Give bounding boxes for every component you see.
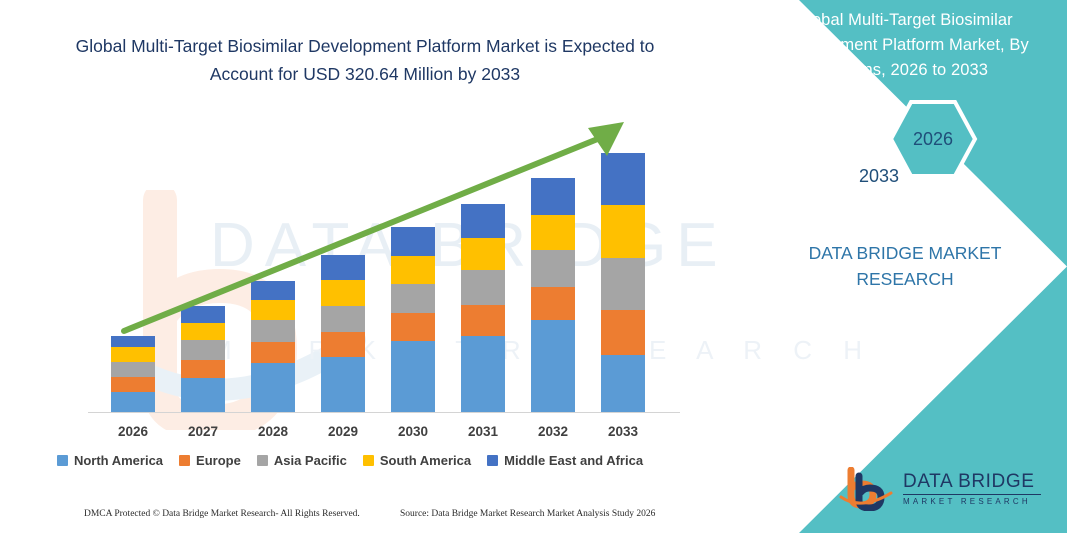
bar-segment-south-america bbox=[461, 238, 505, 270]
bar-segment-middle-east-and-africa bbox=[601, 153, 645, 205]
bar-segment-middle-east-and-africa bbox=[251, 281, 295, 300]
bar-2027 bbox=[181, 306, 225, 412]
bar-2026 bbox=[111, 336, 155, 412]
bar-segment-asia-pacific bbox=[111, 362, 155, 377]
bar-segment-asia-pacific bbox=[321, 306, 365, 332]
x-axis-label-2028: 2028 bbox=[233, 424, 313, 439]
hexagon-badges: 2033 2026 bbox=[807, 96, 1027, 206]
panel-title: Global Multi-Target Biosimilar Developme… bbox=[759, 8, 1049, 83]
legend-swatch-icon bbox=[179, 455, 190, 466]
bar-segment-north-america bbox=[601, 355, 645, 412]
bar-segment-asia-pacific bbox=[391, 284, 435, 313]
dbmr-logo-mark-icon bbox=[839, 467, 893, 511]
legend-label: Middle East and Africa bbox=[504, 453, 643, 468]
footer: DMCA Protected © Data Bridge Market Rese… bbox=[0, 505, 720, 529]
bar-segment-south-america bbox=[601, 205, 645, 258]
bar-segment-europe bbox=[391, 313, 435, 341]
x-axis-line bbox=[88, 412, 680, 413]
bar-segment-middle-east-and-africa bbox=[321, 255, 365, 280]
bar-segment-middle-east-and-africa bbox=[531, 178, 575, 215]
x-axis-label-2026: 2026 bbox=[93, 424, 173, 439]
bar-segment-north-america bbox=[531, 320, 575, 412]
legend-item-north-america[interactable]: North America bbox=[57, 453, 163, 468]
bar-segment-south-america bbox=[251, 300, 295, 320]
dbmr-logo: DATA BRIDGE MARKET RESEARCH bbox=[839, 467, 1041, 511]
bar-segment-north-america bbox=[251, 363, 295, 412]
bar-2029 bbox=[321, 255, 365, 412]
bar-segment-asia-pacific bbox=[461, 270, 505, 305]
legend-label: Asia Pacific bbox=[274, 453, 347, 468]
legend-label: South America bbox=[380, 453, 471, 468]
hexagon-2026-label: 2026 bbox=[887, 98, 979, 180]
legend-swatch-icon bbox=[57, 455, 68, 466]
bar-segment-europe bbox=[111, 377, 155, 392]
bar-2032 bbox=[531, 178, 575, 412]
dbmr-logo-name: DATA BRIDGE bbox=[903, 472, 1041, 491]
legend-item-middle-east-and-africa[interactable]: Middle East and Africa bbox=[487, 453, 643, 468]
hexagon-2026: 2026 bbox=[887, 98, 979, 180]
b-mark-icon bbox=[839, 467, 893, 511]
plot-area: 20262027202820292030203120322033 bbox=[0, 0, 760, 460]
x-axis-label-2031: 2031 bbox=[443, 424, 523, 439]
legend-swatch-icon bbox=[257, 455, 268, 466]
legend-item-asia-pacific[interactable]: Asia Pacific bbox=[257, 453, 347, 468]
dbmr-logo-text: DATA BRIDGE MARKET RESEARCH bbox=[903, 472, 1041, 507]
chart-panel: DATA BRIDGE M A R K E T R E S E A R C H … bbox=[0, 0, 760, 533]
bar-segment-south-america bbox=[531, 215, 575, 250]
x-axis-label-2027: 2027 bbox=[163, 424, 243, 439]
bar-segment-europe bbox=[531, 287, 575, 320]
legend-label: North America bbox=[74, 453, 163, 468]
legend-item-south-america[interactable]: South America bbox=[363, 453, 471, 468]
bar-segment-europe bbox=[461, 305, 505, 336]
bar-segment-north-america bbox=[391, 341, 435, 412]
legend-item-europe[interactable]: Europe bbox=[179, 453, 241, 468]
dbmr-logo-divider bbox=[903, 494, 1041, 496]
legend-swatch-icon bbox=[487, 455, 498, 466]
bar-segment-asia-pacific bbox=[531, 250, 575, 287]
bar-segment-europe bbox=[181, 360, 225, 378]
bar-segment-north-america bbox=[111, 392, 155, 412]
bar-segment-middle-east-and-africa bbox=[461, 204, 505, 238]
bar-segment-north-america bbox=[461, 336, 505, 412]
legend-swatch-icon bbox=[363, 455, 374, 466]
panel-brand-line2: RESEARCH bbox=[785, 266, 1025, 292]
x-axis-label-2029: 2029 bbox=[303, 424, 383, 439]
bar-2033 bbox=[601, 153, 645, 412]
bar-segment-north-america bbox=[181, 378, 225, 412]
bar-segment-middle-east-and-africa bbox=[391, 227, 435, 256]
panel-brand-text: DATA BRIDGE MARKET RESEARCH bbox=[785, 240, 1025, 292]
bar-segment-asia-pacific bbox=[251, 320, 295, 342]
bar-segment-south-america bbox=[321, 280, 365, 306]
bar-segment-south-america bbox=[111, 347, 155, 362]
bar-segment-europe bbox=[321, 332, 365, 357]
footer-dmca-text: DMCA Protected © Data Bridge Market Rese… bbox=[84, 509, 360, 519]
footer-source-text: Source: Data Bridge Market Research Mark… bbox=[400, 509, 655, 519]
bar-2028 bbox=[251, 281, 295, 412]
dbmr-logo-tagline: MARKET RESEARCH bbox=[903, 498, 1041, 506]
bar-segment-south-america bbox=[391, 256, 435, 284]
bar-segment-north-america bbox=[321, 357, 365, 412]
infographic-root: DATA BRIDGE M A R K E T R E S E A R C H … bbox=[0, 0, 1067, 533]
bar-segment-south-america bbox=[181, 323, 225, 340]
legend-label: Europe bbox=[196, 453, 241, 468]
bar-segment-middle-east-and-africa bbox=[181, 306, 225, 323]
x-axis-label-2033: 2033 bbox=[583, 424, 663, 439]
chart-legend: North AmericaEuropeAsia PacificSouth Ame… bbox=[0, 453, 700, 468]
bar-segment-asia-pacific bbox=[601, 258, 645, 310]
x-axis-label-2032: 2032 bbox=[513, 424, 593, 439]
bar-segment-europe bbox=[601, 310, 645, 355]
bar-2031 bbox=[461, 204, 505, 412]
panel-brand-line1: DATA BRIDGE MARKET bbox=[785, 240, 1025, 266]
bar-segment-asia-pacific bbox=[181, 340, 225, 360]
x-axis-label-2030: 2030 bbox=[373, 424, 453, 439]
bar-2030 bbox=[391, 227, 435, 412]
bar-segment-europe bbox=[251, 342, 295, 363]
bar-segment-middle-east-and-africa bbox=[111, 336, 155, 347]
